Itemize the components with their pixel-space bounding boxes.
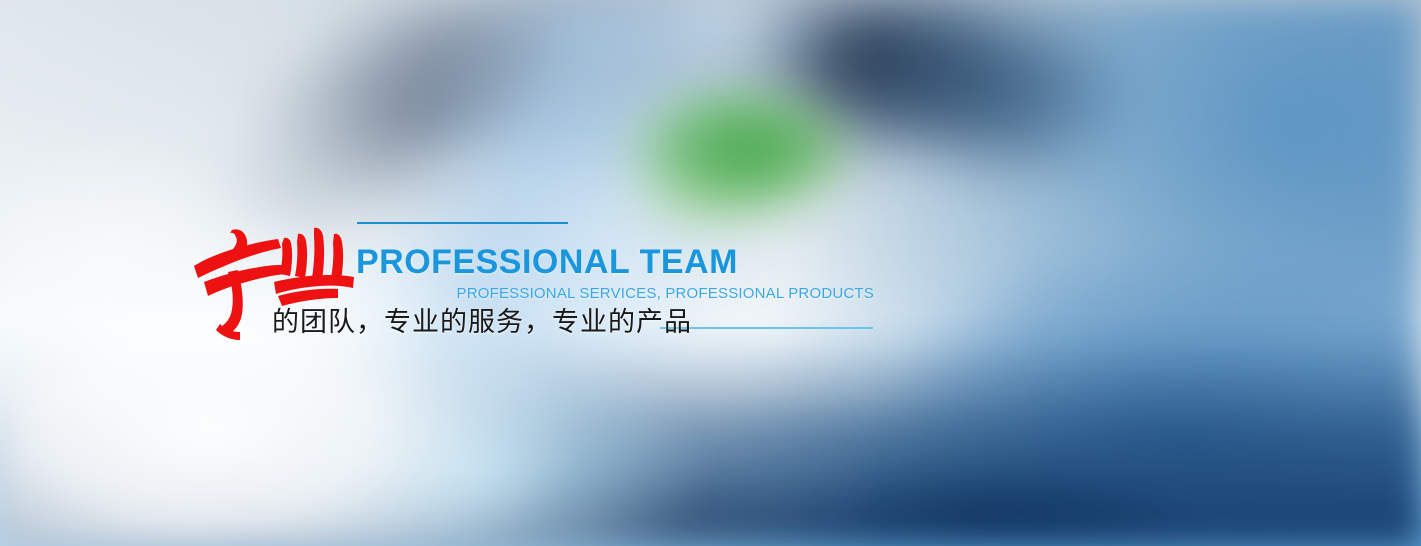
rule-top — [357, 222, 568, 224]
chinese-tagline: 的团队，专业的服务，专业的产品 — [272, 306, 692, 340]
banner-content: PROFESSIONAL TEAM PROFESSIONAL SERVICES,… — [0, 0, 1421, 546]
page-title: PROFESSIONAL TEAM — [356, 243, 738, 281]
page-subtitle: PROFESSIONAL SERVICES, PROFESSIONAL PROD… — [456, 285, 874, 303]
hero-banner: PROFESSIONAL TEAM PROFESSIONAL SERVICES,… — [0, 0, 1421, 546]
